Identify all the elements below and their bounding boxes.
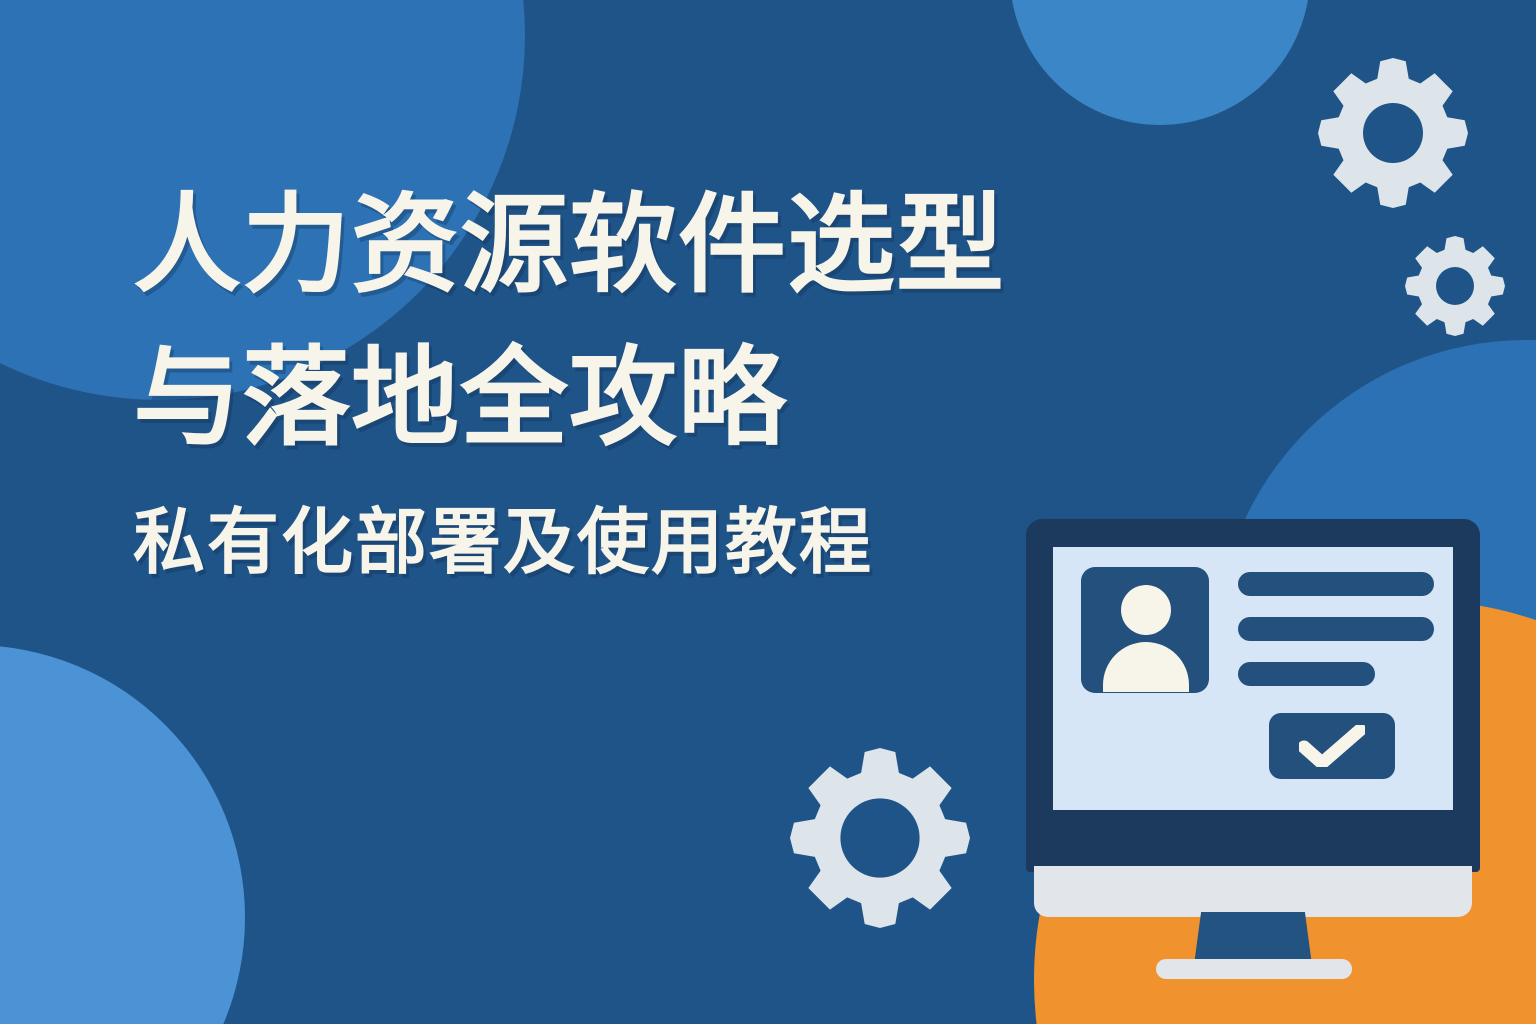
- decorative-circle-bottom-left: [0, 645, 245, 1024]
- avatar-head-icon: [1121, 585, 1171, 635]
- page-title-line-1: 人力资源软件选型: [133, 168, 1273, 321]
- poster-canvas: 人力资源软件选型 与落地全攻略 私有化部署及使用教程: [0, 0, 1536, 1024]
- monitor-chin: [1034, 866, 1472, 917]
- gear-icon: [1405, 236, 1505, 336]
- page-title-line-2: 与落地全攻略: [133, 321, 1273, 474]
- gear-icon: [1318, 58, 1468, 208]
- monitor-screen: [1053, 547, 1453, 810]
- monitor-foot: [1156, 959, 1352, 979]
- monitor-stand: [1194, 912, 1312, 965]
- gear-icon: [790, 748, 970, 928]
- employee-profile-monitor-illustration: [1026, 519, 1480, 943]
- decorative-circle-top-right: [1010, 0, 1310, 125]
- placeholder-text-bar: [1238, 572, 1434, 596]
- check-icon: [1299, 725, 1365, 767]
- placeholder-text-bar: [1238, 617, 1434, 641]
- monitor-bezel: [1026, 519, 1480, 872]
- confirm-button: [1269, 713, 1395, 779]
- avatar-body-icon: [1103, 642, 1189, 692]
- avatar: [1081, 567, 1209, 693]
- placeholder-text-bar: [1238, 662, 1375, 686]
